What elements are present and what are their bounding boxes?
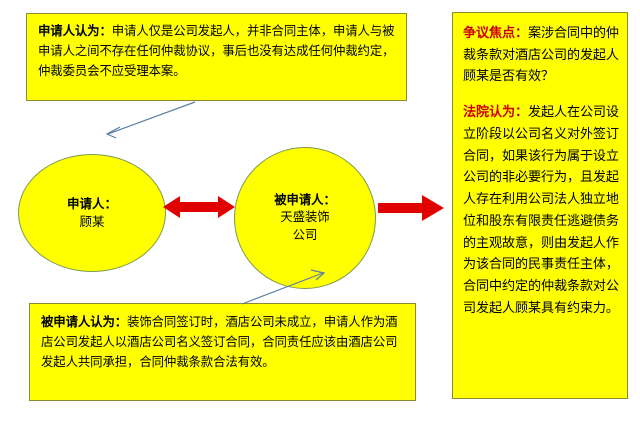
connector-arrow-respondent-icon	[241, 268, 341, 308]
respondent-claim-box: 被申请人认为：装饰合同签订时，酒店公司未成立，申请人作为酒店公司发起人以酒店公司…	[29, 303, 416, 401]
court-opinion-body: 发起人在公司设立阶段以公司名义对外签订合同，如果该行为属于设立公司的非必要行为，…	[463, 105, 619, 316]
respondent-name-line-2: 公司	[293, 227, 318, 244]
applicant-claim-lead: 申请人认为：	[38, 23, 112, 38]
double-arrow-icon	[163, 192, 235, 222]
respondent-claim-paragraph: 被申请人认为：装饰合同签订时，酒店公司未成立，申请人作为酒店公司发起人以酒店公司…	[41, 312, 406, 372]
court-opinion-paragraph: 法院认为：发起人在公司设立阶段以公司名义对外签订合同，如果该行为属于设立公司的非…	[463, 102, 619, 319]
applicant-name: 顾某	[79, 213, 104, 231]
applicant-claim-paragraph: 申请人认为：申请人仅是公司发起人，并非合同主体，申请人与被申请人之间不存在任何仲…	[38, 21, 397, 81]
applicant-party-circle: 申请人： 顾某	[18, 154, 166, 272]
applicant-claim-box: 申请人认为：申请人仅是公司发起人，并非合同主体，申请人与被申请人之间不存在任何仲…	[26, 13, 407, 101]
diagram-canvas: 申请人认为：申请人仅是公司发起人，并非合同主体，申请人与被申请人之间不存在任何仲…	[0, 0, 640, 421]
dispute-focus-paragraph: 争议焦点：案涉合同中的仲裁条款对酒店公司的发起人顾某是否有效？	[463, 23, 619, 88]
court-opinion-lead: 法院认为：	[463, 105, 528, 120]
right-arrow-icon	[378, 195, 444, 221]
respondent-role-label: 被申请人：	[274, 192, 336, 209]
connector-arrow-applicant-icon	[96, 101, 196, 141]
court-panel-box: 争议焦点：案涉合同中的仲裁条款对酒店公司的发起人顾某是否有效？ 法院认为：发起人…	[452, 12, 628, 399]
dispute-focus-lead: 争议焦点：	[463, 26, 528, 41]
respondent-name-line-1: 天盛装饰	[280, 209, 329, 226]
respondent-claim-lead: 被申请人认为：	[41, 314, 127, 329]
applicant-role-label: 申请人：	[67, 195, 117, 213]
